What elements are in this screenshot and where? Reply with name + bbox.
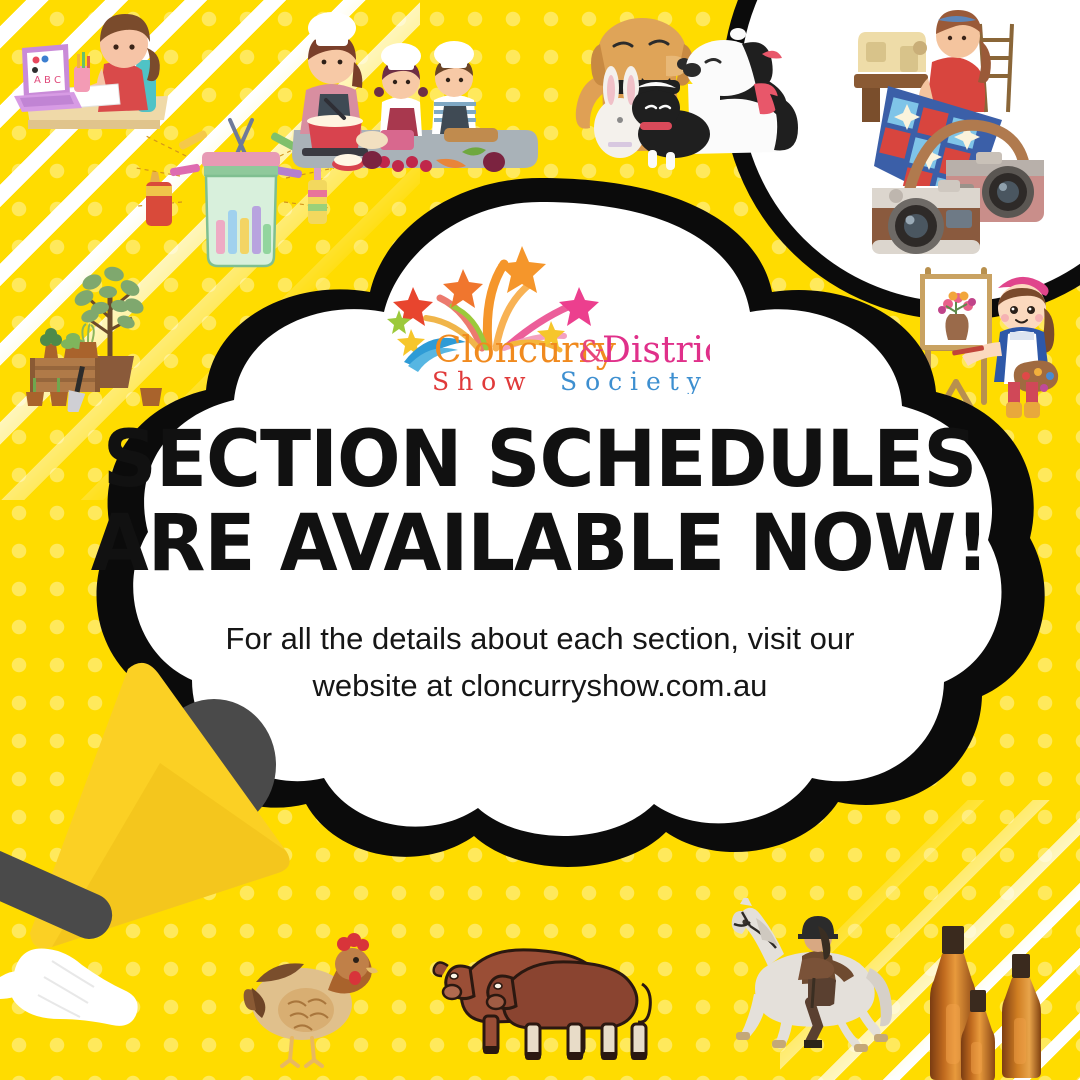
amber-bottles-icon [900, 908, 1070, 1080]
family-cooking-icon [276, 2, 542, 194]
logo-show-text: S h o w [432, 367, 526, 394]
headline-line-1: SECTION SCHEDULES [91, 418, 989, 502]
cloncurry-show-society-logo: Cloncurry & District S h o w S o c i e t… [360, 244, 720, 394]
logo-district-text: District [602, 330, 710, 371]
page-title: SECTION SCHEDULES ARE AVAILABLE NOW! [91, 418, 989, 586]
horse-and-rider-icon [728, 898, 898, 1073]
svg-text:A B C: A B C [34, 75, 61, 86]
headline-line-2: ARE AVAILABLE NOW! [91, 502, 989, 586]
pets-dog-cat-rabbit-icon [556, 0, 806, 175]
logo-society-text: S o c i e t y [560, 367, 702, 394]
logo-ampersand: & [578, 335, 605, 370]
megaphone-icon [0, 655, 350, 1055]
cattle-bulls-icon [430, 930, 670, 1060]
